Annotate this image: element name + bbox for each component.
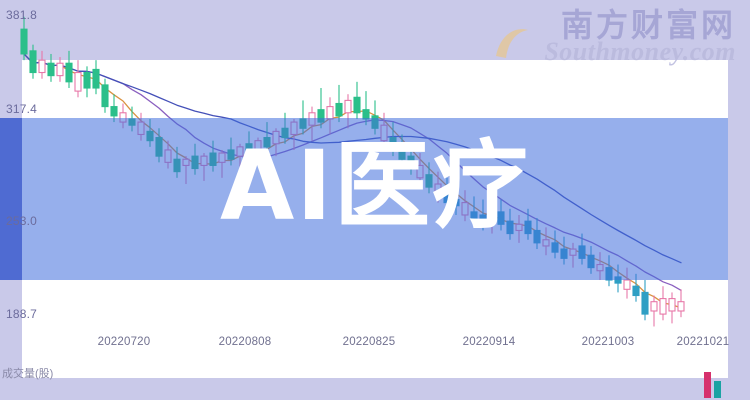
x-axis-tick-3: 20220914 bbox=[463, 336, 516, 348]
y-axis-tick-1: 317.4 bbox=[6, 102, 37, 116]
swoosh-icon bbox=[494, 26, 554, 60]
x-axis-tick-1: 20220808 bbox=[219, 336, 272, 348]
watermark: 南方财富网 Southmoney.com bbox=[544, 8, 736, 66]
volume-axis-label: 成交量(股) bbox=[2, 365, 53, 381]
x-axis-tick-4: 20221003 bbox=[582, 336, 635, 348]
volume-bars bbox=[704, 372, 721, 398]
x-axis-tick-5: 20221021 bbox=[677, 336, 730, 348]
y-axis-tick-3: 188.7 bbox=[6, 307, 37, 321]
y-axis-tick-0: 381.8 bbox=[6, 8, 37, 22]
x-axis-tick-0: 20220720 bbox=[98, 336, 151, 348]
overlay-title: AI医疗 bbox=[0, 138, 750, 234]
watermark-english-text: Southmoney.com bbox=[544, 38, 736, 66]
x-axis-tick-2: 20220825 bbox=[343, 336, 396, 348]
chart-screenshot: 381.8 317.4 253.0 188.7 20220720 2022080… bbox=[0, 0, 750, 400]
